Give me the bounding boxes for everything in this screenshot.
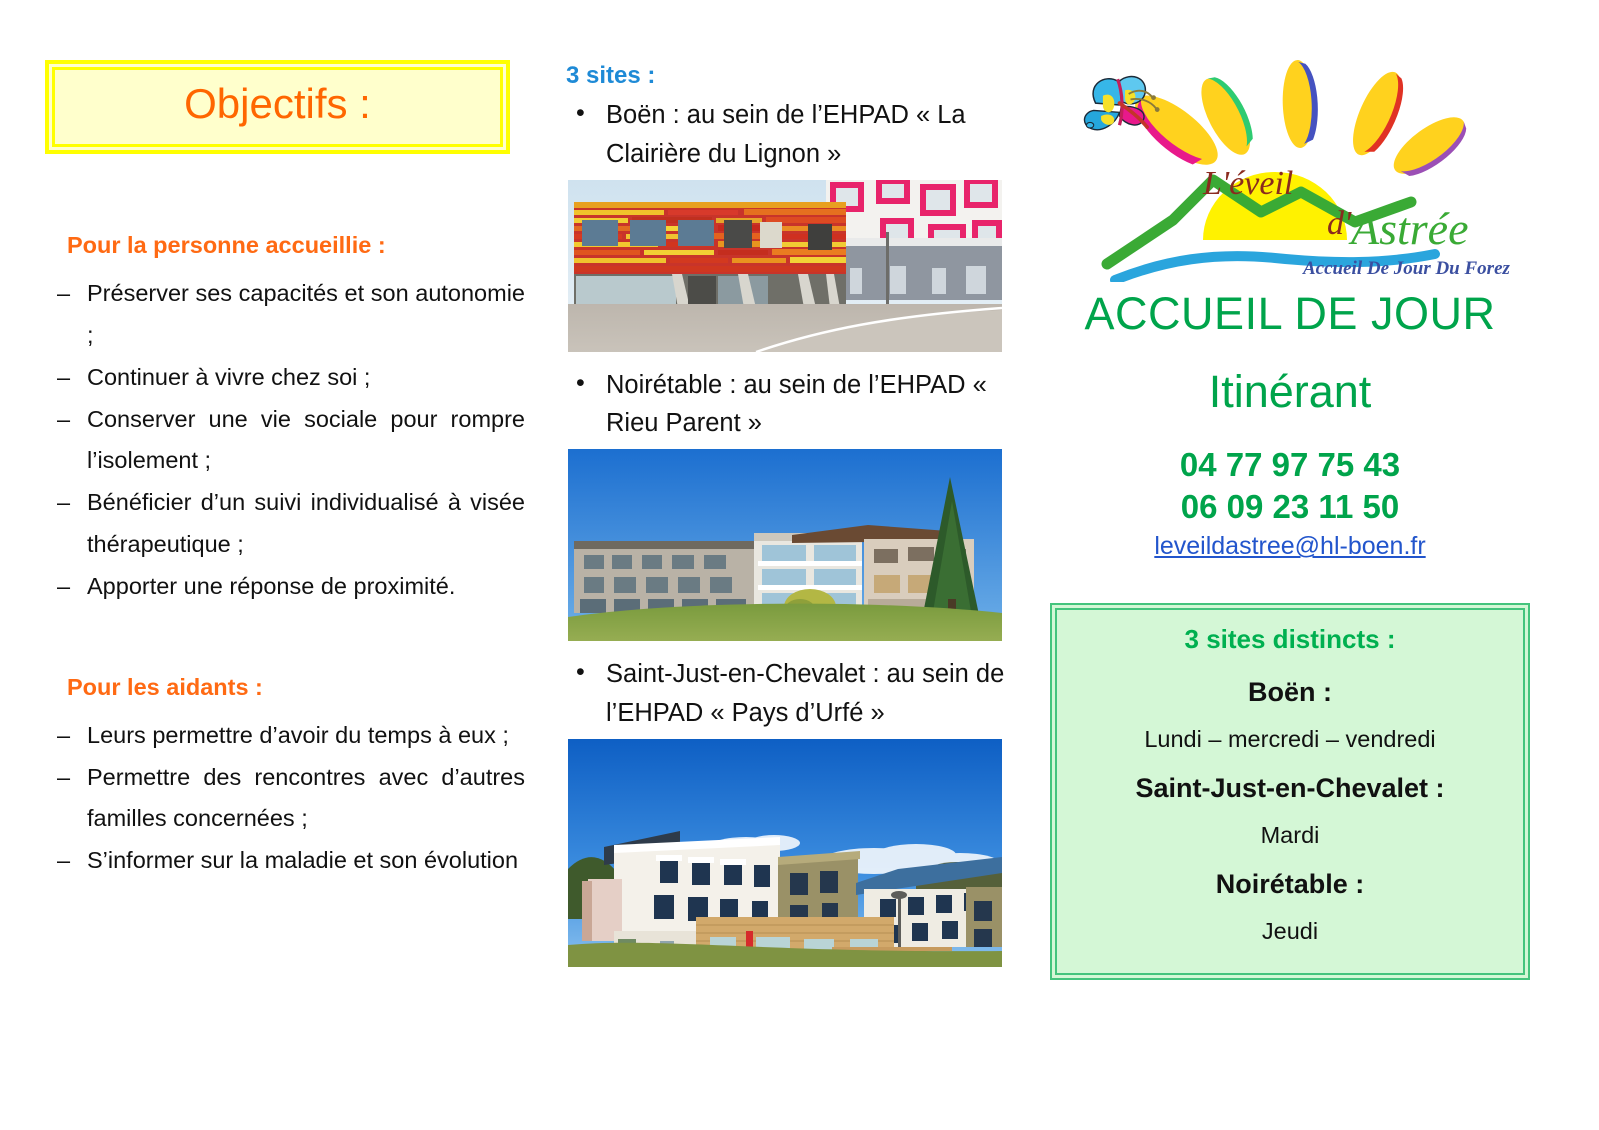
ehpad-boen-photo (568, 180, 1002, 352)
ehpad-saint-just-photo (568, 739, 1002, 967)
list-item: • Noirétable : au sein de l’EHPAD « Rieu… (566, 366, 1011, 444)
right-column: L'éveil d' Astrée Accueil De Jour Du For… (1040, 52, 1540, 980)
list-item: – Permettre des rencontres avec d’autres… (45, 757, 525, 841)
dash-bullet-icon: – (57, 273, 70, 315)
site-text: Noirétable : au sein de l’EHPAD « Rieu P… (606, 371, 987, 438)
list-item: – Bénéficier d’un suivi individualisé à … (45, 482, 525, 566)
dash-bullet-icon: – (57, 482, 70, 524)
list-item: – Conserver une vie sociale pour rompre … (45, 399, 525, 483)
schedule-site-days: Jeudi (1067, 918, 1513, 945)
list-item-text: Préserver ses capacités et son autonomie… (87, 273, 525, 357)
phone-number-2: 06 09 23 11 50 (1040, 486, 1540, 528)
schedule-site-name: Saint-Just-en-Chevalet : (1067, 773, 1513, 804)
logo-name-part3: Astrée (1348, 203, 1469, 254)
logo-name-part1: L'éveil (1202, 165, 1293, 202)
heading-personne-accueillie: Pour la personne accueillie : (67, 232, 525, 259)
middle-column: 3 sites : • Boën : au sein de l’EHPAD « … (566, 62, 1011, 981)
list-aidants: – Leurs permettre d’avoir du temps à eux… (45, 715, 525, 882)
sites-list-2: • Noirétable : au sein de l’EHPAD « Rieu… (566, 366, 1011, 444)
list-item-text: S’informer sur la maladie et son évoluti… (87, 840, 525, 882)
bullet-icon: • (576, 364, 585, 402)
email-link[interactable]: leveildastree@hl-boen.fr (1040, 532, 1540, 561)
objectifs-box-inner: Objectifs : (52, 67, 503, 147)
list-item: – Leurs permettre d’avoir du temps à eux… (45, 715, 525, 757)
list-item-text: Apporter une réponse de proximité. (87, 566, 525, 608)
sites-list: • Boën : au sein de l’EHPAD « La Clairiè… (566, 96, 1011, 174)
phone-numbers: 04 77 97 75 43 06 09 23 11 50 (1040, 444, 1540, 528)
objectifs-box: Objectifs : (45, 60, 510, 154)
schedule-site-name: Noirétable : (1067, 869, 1513, 900)
schedule-site-days: Lundi – mercredi – vendredi (1067, 726, 1513, 753)
logo-name-part2: d' (1327, 205, 1352, 242)
page-subtitle: Itinérant (1040, 366, 1540, 418)
dash-bullet-icon: – (57, 357, 70, 399)
dash-bullet-icon: – (57, 757, 70, 799)
logo-tagline: Accueil De Jour Du Forez (1302, 258, 1511, 279)
site-text: Saint-Just-en-Chevalet : au sein de l’EH… (606, 660, 1004, 727)
list-item: – Apporter une réponse de proximité. (45, 566, 525, 608)
bullet-icon: • (576, 653, 585, 691)
list-item: • Saint-Just-en-Chevalet : au sein de l’… (566, 655, 1011, 733)
list-item: – Continuer à vivre chez soi ; (45, 357, 525, 399)
list-item: – S’informer sur la maladie et son évolu… (45, 840, 525, 882)
brochure-page: Objectifs : Pour la personne accueillie … (0, 0, 1599, 1130)
schedule-box-inner: 3 sites distincts : Boën : Lundi – mercr… (1055, 608, 1525, 975)
dash-bullet-icon: – (57, 840, 70, 882)
schedule-site-days: Mardi (1067, 822, 1513, 849)
list-item-text: Bénéficier d’un suivi individualisé à vi… (87, 482, 525, 566)
left-column: Objectifs : Pour la personne accueillie … (45, 60, 525, 882)
dash-bullet-icon: – (57, 399, 70, 441)
list-item-text: Leurs permettre d’avoir du temps à eux ; (87, 715, 525, 757)
eveil-dastree-logo: L'éveil d' Astrée Accueil De Jour Du For… (1055, 52, 1525, 282)
site-text: Boën : au sein de l’EHPAD « La Clairière… (606, 101, 966, 168)
list-item: – Préserver ses capacités et son autonom… (45, 273, 525, 357)
list-item-text: Permettre des rencontres avec d’autres f… (87, 757, 525, 841)
list-personne-accueillie: – Préserver ses capacités et son autonom… (45, 273, 525, 608)
dash-bullet-icon: – (57, 715, 70, 757)
list-item-text: Conserver une vie sociale pour rompre l’… (87, 399, 525, 483)
page-title: ACCUEIL DE JOUR (1040, 288, 1540, 340)
list-item: • Boën : au sein de l’EHPAD « La Clairiè… (566, 96, 1011, 174)
objectifs-title: Objectifs : (55, 82, 500, 126)
schedule-box: 3 sites distincts : Boën : Lundi – mercr… (1050, 603, 1530, 980)
list-item-text: Continuer à vivre chez soi ; (87, 357, 525, 399)
schedule-title: 3 sites distincts : (1067, 624, 1513, 655)
schedule-site-name: Boën : (1067, 677, 1513, 708)
sites-list-3: • Saint-Just-en-Chevalet : au sein de l’… (566, 655, 1011, 733)
dash-bullet-icon: – (57, 566, 70, 608)
bullet-icon: • (576, 94, 585, 132)
ehpad-noiretable-photo (568, 449, 1002, 641)
heading-aidants: Pour les aidants : (67, 674, 525, 701)
phone-number-1: 04 77 97 75 43 (1040, 444, 1540, 486)
heading-3-sites: 3 sites : (566, 62, 1011, 90)
